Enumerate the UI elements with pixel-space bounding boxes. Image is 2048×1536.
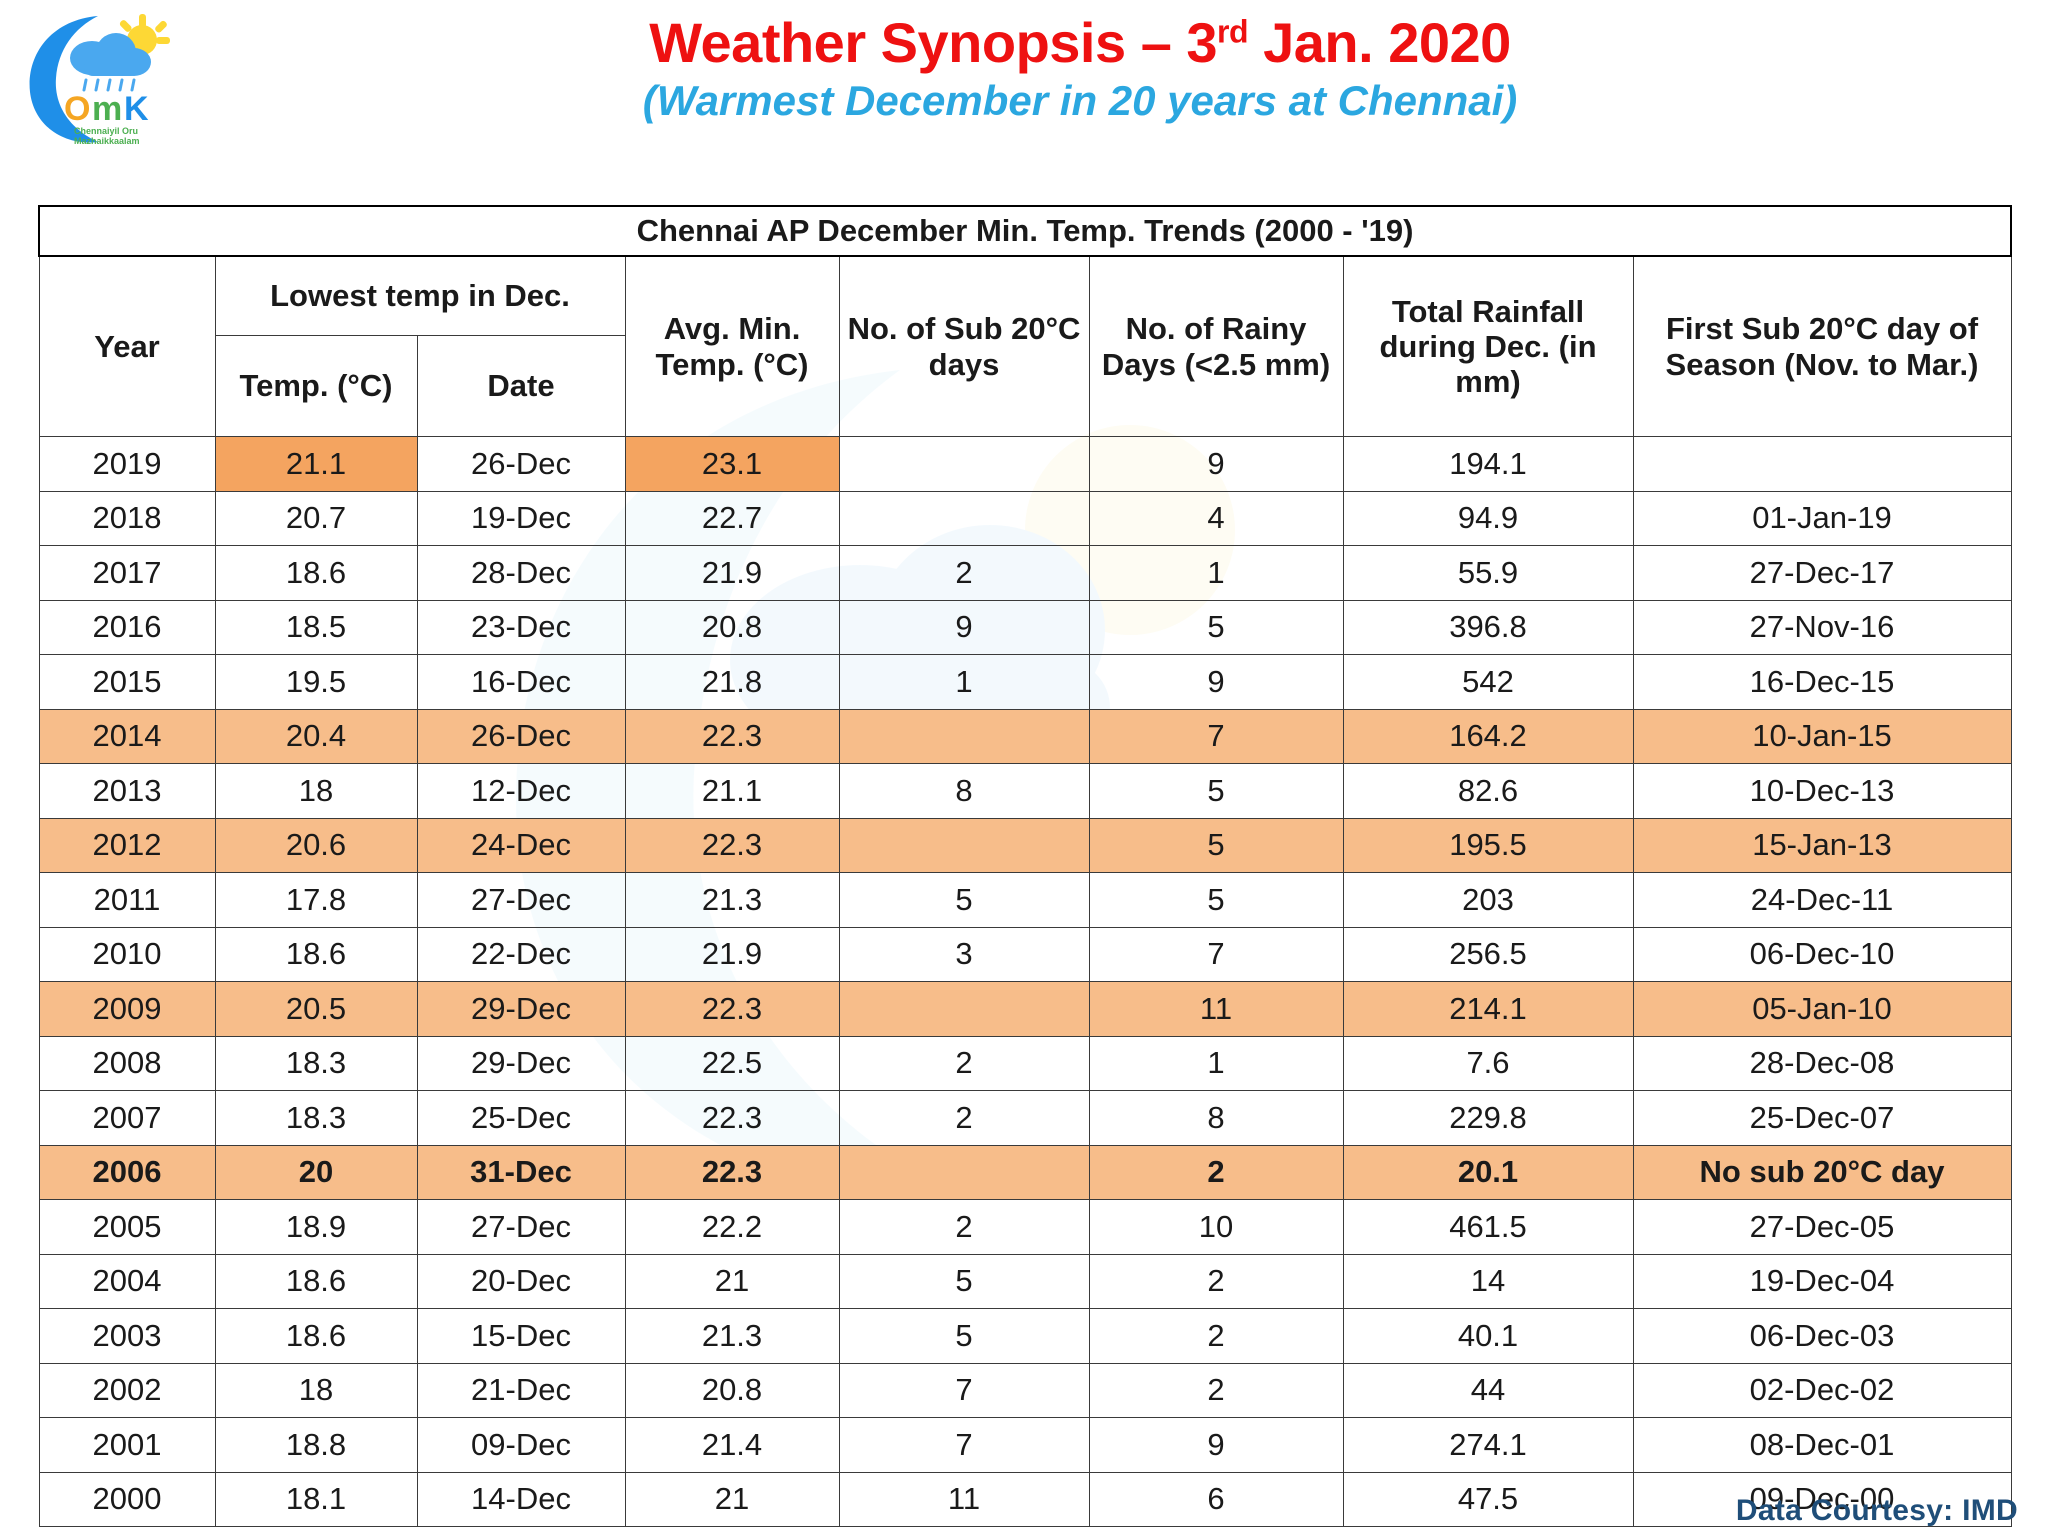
data-credit: Data Courtesy: IMD bbox=[1736, 1494, 2018, 1528]
cell-lowest-date: 21-Dec bbox=[417, 1363, 625, 1418]
cell-lowest-date: 27-Dec bbox=[417, 1200, 625, 1255]
cell-lowest-date: 15-Dec bbox=[417, 1309, 625, 1364]
cell-lowest-date: 12-Dec bbox=[417, 764, 625, 819]
cell-sub20-days: 2 bbox=[839, 1091, 1089, 1146]
page-header: O m K Chennaiyil Oru Mazhaikkaalam Weath… bbox=[0, 0, 2048, 150]
cell-rainy-days: 5 bbox=[1089, 818, 1343, 873]
cell-avg-min: 22.3 bbox=[625, 1091, 839, 1146]
cell-lowest-temp: 18.6 bbox=[215, 546, 417, 601]
cell-rainy-days: 9 bbox=[1089, 437, 1343, 492]
cell-total-rainfall: 40.1 bbox=[1343, 1309, 1633, 1364]
cell-sub20-days: 2 bbox=[839, 1200, 1089, 1255]
cell-avg-min: 22.7 bbox=[625, 491, 839, 546]
cell-first-sub20: 01-Jan-19 bbox=[1633, 491, 2011, 546]
cell-lowest-temp: 18 bbox=[215, 764, 417, 819]
cell-avg-min: 22.3 bbox=[625, 982, 839, 1037]
col-header-avg-min: Avg. Min. Temp. (°C) bbox=[625, 256, 839, 437]
cell-lowest-date: 26-Dec bbox=[417, 437, 625, 492]
cell-rainy-days: 6 bbox=[1089, 1472, 1343, 1527]
col-header-total-rainfall: Total Rainfall during Dec. (in mm) bbox=[1343, 256, 1633, 437]
col-header-lowest-group: Lowest temp in Dec. bbox=[215, 256, 625, 336]
cell-total-rainfall: 256.5 bbox=[1343, 927, 1633, 982]
table-row: 20131812-Dec21.18582.610-Dec-13 bbox=[39, 764, 2011, 819]
cell-first-sub20: 19-Dec-04 bbox=[1633, 1254, 2011, 1309]
cell-avg-min: 21.3 bbox=[625, 873, 839, 928]
cell-lowest-temp: 20.6 bbox=[215, 818, 417, 873]
cell-rainy-days: 2 bbox=[1089, 1254, 1343, 1309]
cell-total-rainfall: 55.9 bbox=[1343, 546, 1633, 601]
col-header-sub20-days: No. of Sub 20°C days bbox=[839, 256, 1089, 437]
cell-lowest-temp: 20.4 bbox=[215, 709, 417, 764]
cell-sub20-days: 2 bbox=[839, 546, 1089, 601]
cell-sub20-days: 9 bbox=[839, 600, 1089, 655]
cell-avg-min: 20.8 bbox=[625, 1363, 839, 1418]
cell-first-sub20: 27-Dec-05 bbox=[1633, 1200, 2011, 1255]
cell-year: 2016 bbox=[39, 600, 215, 655]
data-table-container: Chennai AP December Min. Temp. Trends (2… bbox=[38, 205, 2010, 1527]
cell-sub20-days: 7 bbox=[839, 1363, 1089, 1418]
cell-lowest-temp: 19.5 bbox=[215, 655, 417, 710]
table-row: 201220.624-Dec22.35195.515-Jan-13 bbox=[39, 818, 2011, 873]
cell-first-sub20: 08-Dec-01 bbox=[1633, 1418, 2011, 1473]
cell-avg-min: 22.5 bbox=[625, 1036, 839, 1091]
table-row: 200818.329-Dec22.5217.628-Dec-08 bbox=[39, 1036, 2011, 1091]
cell-sub20-days bbox=[839, 437, 1089, 492]
cell-rainy-days: 5 bbox=[1089, 600, 1343, 655]
cell-first-sub20: 27-Dec-17 bbox=[1633, 546, 2011, 601]
cell-lowest-date: 28-Dec bbox=[417, 546, 625, 601]
cell-total-rainfall: 94.9 bbox=[1343, 491, 1633, 546]
cell-avg-min: 22.3 bbox=[625, 818, 839, 873]
cell-sub20-days: 5 bbox=[839, 873, 1089, 928]
cell-total-rainfall: 44 bbox=[1343, 1363, 1633, 1418]
svg-text:m: m bbox=[92, 90, 122, 128]
cell-avg-min: 21 bbox=[625, 1254, 839, 1309]
col-header-lowest-temp: Temp. (°C) bbox=[215, 336, 417, 437]
cell-lowest-date: 26-Dec bbox=[417, 709, 625, 764]
cell-sub20-days bbox=[839, 818, 1089, 873]
cell-year: 2007 bbox=[39, 1091, 215, 1146]
title-block: Weather Synopsis – 3rd Jan. 2020 (Warmes… bbox=[300, 14, 1860, 125]
cell-total-rainfall: 214.1 bbox=[1343, 982, 1633, 1037]
cell-total-rainfall: 229.8 bbox=[1343, 1091, 1633, 1146]
cell-total-rainfall: 461.5 bbox=[1343, 1200, 1633, 1255]
cell-lowest-date: 23-Dec bbox=[417, 600, 625, 655]
cell-total-rainfall: 82.6 bbox=[1343, 764, 1633, 819]
page-title-text: Weather Synopsis – 3 bbox=[649, 11, 1217, 74]
table-row: 201117.827-Dec21.35520324-Dec-11 bbox=[39, 873, 2011, 928]
page-title: Weather Synopsis – 3rd Jan. 2020 bbox=[300, 14, 1860, 73]
cell-rainy-days: 10 bbox=[1089, 1200, 1343, 1255]
cell-sub20-days: 11 bbox=[839, 1472, 1089, 1527]
cell-avg-min: 21.8 bbox=[625, 655, 839, 710]
table-row: 200718.325-Dec22.328229.825-Dec-07 bbox=[39, 1091, 2011, 1146]
cell-avg-min: 22.3 bbox=[625, 709, 839, 764]
table-row: 200318.615-Dec21.35240.106-Dec-03 bbox=[39, 1309, 2011, 1364]
cell-first-sub20: 15-Jan-13 bbox=[1633, 818, 2011, 873]
cell-lowest-temp: 18.5 bbox=[215, 600, 417, 655]
cell-lowest-temp: 21.1 bbox=[215, 437, 417, 492]
cell-year: 2019 bbox=[39, 437, 215, 492]
cell-first-sub20: 27-Nov-16 bbox=[1633, 600, 2011, 655]
cell-lowest-temp: 18 bbox=[215, 1363, 417, 1418]
cell-lowest-date: 20-Dec bbox=[417, 1254, 625, 1309]
cell-total-rainfall: 194.1 bbox=[1343, 437, 1633, 492]
table-caption-row: Chennai AP December Min. Temp. Trends (2… bbox=[39, 206, 2011, 256]
cell-sub20-days: 3 bbox=[839, 927, 1089, 982]
weather-data-table: Chennai AP December Min. Temp. Trends (2… bbox=[38, 205, 2012, 1527]
table-row: 200118.809-Dec21.479274.108-Dec-01 bbox=[39, 1418, 2011, 1473]
cell-total-rainfall: 274.1 bbox=[1343, 1418, 1633, 1473]
cell-lowest-temp: 17.8 bbox=[215, 873, 417, 928]
cell-year: 2013 bbox=[39, 764, 215, 819]
comk-logo: O m K Chennaiyil Oru Mazhaikkaalam bbox=[20, 8, 220, 148]
cell-rainy-days: 2 bbox=[1089, 1363, 1343, 1418]
cell-total-rainfall: 47.5 bbox=[1343, 1472, 1633, 1527]
cell-sub20-days bbox=[839, 709, 1089, 764]
col-header-year: Year bbox=[39, 256, 215, 437]
cell-lowest-temp: 18.1 bbox=[215, 1472, 417, 1527]
cell-lowest-date: 14-Dec bbox=[417, 1472, 625, 1527]
table-row: 201921.126-Dec23.19194.1 bbox=[39, 437, 2011, 492]
cell-year: 2006 bbox=[39, 1145, 215, 1200]
cell-rainy-days: 7 bbox=[1089, 927, 1343, 982]
cell-sub20-days bbox=[839, 982, 1089, 1037]
cell-lowest-date: 29-Dec bbox=[417, 982, 625, 1037]
cell-avg-min: 21.9 bbox=[625, 927, 839, 982]
table-header: Chennai AP December Min. Temp. Trends (2… bbox=[39, 206, 2011, 437]
cell-total-rainfall: 396.8 bbox=[1343, 600, 1633, 655]
cell-total-rainfall: 14 bbox=[1343, 1254, 1633, 1309]
cell-total-rainfall: 7.6 bbox=[1343, 1036, 1633, 1091]
cell-avg-min: 21.4 bbox=[625, 1418, 839, 1473]
cell-year: 2018 bbox=[39, 491, 215, 546]
cell-lowest-date: 09-Dec bbox=[417, 1418, 625, 1473]
cell-lowest-date: 29-Dec bbox=[417, 1036, 625, 1091]
cell-rainy-days: 9 bbox=[1089, 1418, 1343, 1473]
cell-total-rainfall: 203 bbox=[1343, 873, 1633, 928]
cell-first-sub20: 02-Dec-02 bbox=[1633, 1363, 2011, 1418]
cell-lowest-temp: 18.3 bbox=[215, 1036, 417, 1091]
table-row: 201618.523-Dec20.895396.827-Nov-16 bbox=[39, 600, 2011, 655]
cell-avg-min: 21 bbox=[625, 1472, 839, 1527]
cell-first-sub20: 28-Dec-08 bbox=[1633, 1036, 2011, 1091]
svg-text:Chennaiyil Oru: Chennaiyil Oru bbox=[74, 126, 138, 136]
cell-avg-min: 21.3 bbox=[625, 1309, 839, 1364]
svg-text:Mazhaikkaalam: Mazhaikkaalam bbox=[74, 136, 140, 146]
cell-first-sub20: 05-Jan-10 bbox=[1633, 982, 2011, 1037]
cell-lowest-temp: 20.5 bbox=[215, 982, 417, 1037]
table-row: 200418.620-Dec21521419-Dec-04 bbox=[39, 1254, 2011, 1309]
cell-lowest-temp: 18.6 bbox=[215, 1309, 417, 1364]
cell-lowest-date: 19-Dec bbox=[417, 491, 625, 546]
cell-total-rainfall: 195.5 bbox=[1343, 818, 1633, 873]
table-row: 201519.516-Dec21.81954216-Dec-15 bbox=[39, 655, 2011, 710]
cell-year: 2017 bbox=[39, 546, 215, 601]
cell-rainy-days: 5 bbox=[1089, 873, 1343, 928]
page-title-tail: Jan. 2020 bbox=[1248, 11, 1511, 74]
cell-lowest-temp: 18.6 bbox=[215, 1254, 417, 1309]
cell-lowest-temp: 18.8 bbox=[215, 1418, 417, 1473]
cell-year: 2005 bbox=[39, 1200, 215, 1255]
cell-sub20-days bbox=[839, 1145, 1089, 1200]
cell-lowest-date: 25-Dec bbox=[417, 1091, 625, 1146]
svg-text:O: O bbox=[64, 90, 90, 128]
cell-first-sub20: 06-Dec-03 bbox=[1633, 1309, 2011, 1364]
cell-rainy-days: 2 bbox=[1089, 1145, 1343, 1200]
cell-first-sub20: 06-Dec-10 bbox=[1633, 927, 2011, 982]
cell-lowest-temp: 20 bbox=[215, 1145, 417, 1200]
cell-sub20-days: 1 bbox=[839, 655, 1089, 710]
col-header-first-sub20: First Sub 20°C day of Season (Nov. to Ma… bbox=[1633, 256, 2011, 437]
cell-first-sub20: 10-Dec-13 bbox=[1633, 764, 2011, 819]
cell-first-sub20: No sub 20°C day bbox=[1633, 1145, 2011, 1200]
cell-year: 2004 bbox=[39, 1254, 215, 1309]
table-row: 201820.719-Dec22.7494.901-Jan-19 bbox=[39, 491, 2011, 546]
table-row: 200518.927-Dec22.2210461.527-Dec-05 bbox=[39, 1200, 2011, 1255]
cell-year: 2003 bbox=[39, 1309, 215, 1364]
cell-rainy-days: 11 bbox=[1089, 982, 1343, 1037]
cell-rainy-days: 8 bbox=[1089, 1091, 1343, 1146]
cell-lowest-temp: 20.7 bbox=[215, 491, 417, 546]
table-row: 201718.628-Dec21.92155.927-Dec-17 bbox=[39, 546, 2011, 601]
cell-lowest-date: 31-Dec bbox=[417, 1145, 625, 1200]
cell-first-sub20 bbox=[1633, 437, 2011, 492]
cell-year: 2008 bbox=[39, 1036, 215, 1091]
cell-lowest-temp: 18.6 bbox=[215, 927, 417, 982]
cell-avg-min: 22.3 bbox=[625, 1145, 839, 1200]
cell-lowest-temp: 18.3 bbox=[215, 1091, 417, 1146]
cell-rainy-days: 7 bbox=[1089, 709, 1343, 764]
cell-rainy-days: 1 bbox=[1089, 546, 1343, 601]
cell-year: 2000 bbox=[39, 1472, 215, 1527]
cell-avg-min: 21.9 bbox=[625, 546, 839, 601]
cell-rainy-days: 5 bbox=[1089, 764, 1343, 819]
cell-lowest-date: 27-Dec bbox=[417, 873, 625, 928]
cell-rainy-days: 9 bbox=[1089, 655, 1343, 710]
cell-year: 2012 bbox=[39, 818, 215, 873]
cell-year: 2011 bbox=[39, 873, 215, 928]
svg-text:K: K bbox=[124, 90, 149, 128]
cell-rainy-days: 1 bbox=[1089, 1036, 1343, 1091]
cell-rainy-days: 4 bbox=[1089, 491, 1343, 546]
cell-sub20-days: 2 bbox=[839, 1036, 1089, 1091]
cell-total-rainfall: 542 bbox=[1343, 655, 1633, 710]
cell-sub20-days: 5 bbox=[839, 1254, 1089, 1309]
table-row: 20062031-Dec22.3220.1No sub 20°C day bbox=[39, 1145, 2011, 1200]
cell-avg-min: 21.1 bbox=[625, 764, 839, 819]
cell-avg-min: 22.2 bbox=[625, 1200, 839, 1255]
cell-avg-min: 20.8 bbox=[625, 600, 839, 655]
cell-year: 2014 bbox=[39, 709, 215, 764]
cell-lowest-date: 24-Dec bbox=[417, 818, 625, 873]
cell-year: 2002 bbox=[39, 1363, 215, 1418]
cell-sub20-days bbox=[839, 491, 1089, 546]
table-row: 200920.529-Dec22.311214.105-Jan-10 bbox=[39, 982, 2011, 1037]
cell-first-sub20: 24-Dec-11 bbox=[1633, 873, 2011, 928]
cell-year: 2001 bbox=[39, 1418, 215, 1473]
cell-first-sub20: 10-Jan-15 bbox=[1633, 709, 2011, 764]
cell-first-sub20: 16-Dec-15 bbox=[1633, 655, 2011, 710]
table-row: 201420.426-Dec22.37164.210-Jan-15 bbox=[39, 709, 2011, 764]
cell-first-sub20: 25-Dec-07 bbox=[1633, 1091, 2011, 1146]
table-caption: Chennai AP December Min. Temp. Trends (2… bbox=[39, 206, 2011, 256]
cell-year: 2015 bbox=[39, 655, 215, 710]
col-header-lowest-date: Date bbox=[417, 336, 625, 437]
col-header-rainy-days: No. of Rainy Days (<2.5 mm) bbox=[1089, 256, 1343, 437]
page-title-ordinal: rd bbox=[1217, 13, 1248, 49]
cell-avg-min: 23.1 bbox=[625, 437, 839, 492]
cell-year: 2010 bbox=[39, 927, 215, 982]
cell-lowest-date: 16-Dec bbox=[417, 655, 625, 710]
header-row-top: Year Lowest temp in Dec. Avg. Min. Temp.… bbox=[39, 256, 2011, 336]
cell-rainy-days: 2 bbox=[1089, 1309, 1343, 1364]
cell-year: 2009 bbox=[39, 982, 215, 1037]
table-row: 201018.622-Dec21.937256.506-Dec-10 bbox=[39, 927, 2011, 982]
table-body: 201921.126-Dec23.19194.1201820.719-Dec22… bbox=[39, 437, 2011, 1527]
table-row: 20021821-Dec20.8724402-Dec-02 bbox=[39, 1363, 2011, 1418]
cell-sub20-days: 7 bbox=[839, 1418, 1089, 1473]
cell-lowest-date: 22-Dec bbox=[417, 927, 625, 982]
cell-sub20-days: 8 bbox=[839, 764, 1089, 819]
page-subtitle: (Warmest December in 20 years at Chennai… bbox=[300, 77, 1860, 125]
cell-total-rainfall: 164.2 bbox=[1343, 709, 1633, 764]
cell-total-rainfall: 20.1 bbox=[1343, 1145, 1633, 1200]
table-row: 200018.114-Dec2111647.509-Dec-00 bbox=[39, 1472, 2011, 1527]
cell-lowest-temp: 18.9 bbox=[215, 1200, 417, 1255]
cell-sub20-days: 5 bbox=[839, 1309, 1089, 1364]
